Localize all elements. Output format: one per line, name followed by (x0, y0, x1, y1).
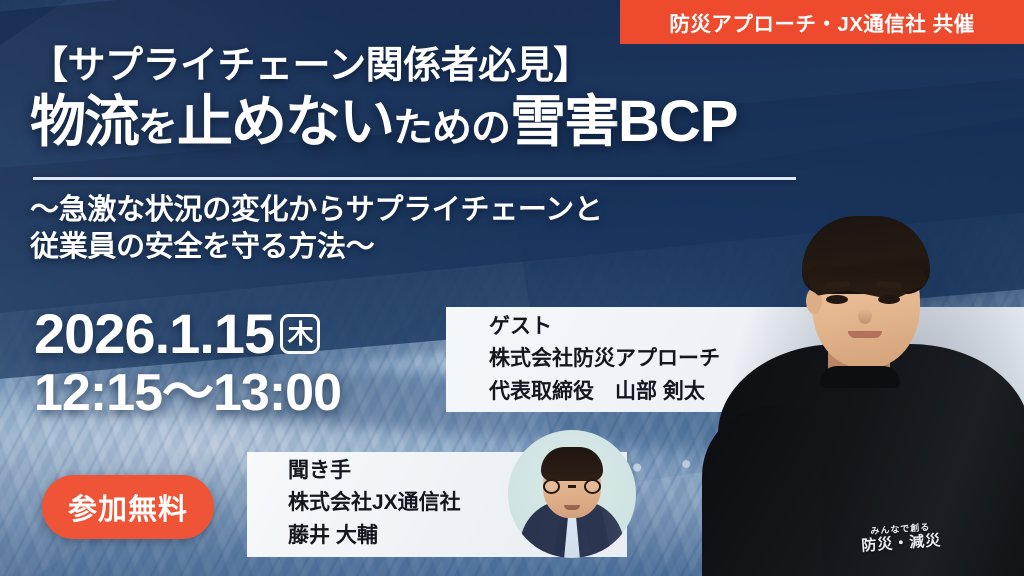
title-segment-tameno: ための (393, 108, 510, 148)
schedule-block: 2026.1.15 木 12:15～13:00 (34, 305, 341, 421)
title-segment-butsuryu: 物流 (30, 94, 138, 150)
speaker-eye-left (826, 295, 848, 304)
subtitle-line-2: 従業員の安全を守る方法～ (30, 229, 603, 266)
title-segment-wo: を (138, 108, 177, 148)
guest-title-and-name: 代表取締役 山部 剣太 (489, 376, 720, 408)
day-of-week-badge: 木 (280, 314, 320, 354)
host-name: 藤井 大輔 (288, 520, 461, 552)
webinar-banner: 防災アプローチ・JX通信社 共催 【サプライチェーン関係者必見】 物流 を 止 … (0, 0, 1024, 576)
host-company: 株式会社JX通信社 (288, 487, 461, 519)
page-title: 物流 を 止 めない ための 雪害 BCP (30, 93, 737, 151)
host-role-label: 聞き手 (288, 455, 461, 487)
title-segment-tome: 止 (177, 94, 231, 150)
kicker-text: 【サプライチェーン関係者必見】 (30, 34, 591, 89)
speaker-mouth (848, 331, 882, 338)
event-date-line: 2026.1.15 木 (34, 305, 341, 362)
title-divider-rule (33, 177, 796, 180)
title-segment-setsugai: 雪害 (510, 94, 618, 150)
guest-company: 株式会社防災アプローチ (489, 343, 720, 375)
speaker-eye-right (878, 295, 900, 304)
host-info-text: 聞き手 株式会社JX通信社 藤井 大輔 (288, 455, 461, 552)
title-segment-menai: めない (231, 94, 393, 150)
event-time: 12:15～13:00 (34, 366, 341, 421)
subtitle-line-1: ～急激な状況の変化からサプライチェーンと (30, 192, 603, 229)
guest-info-text: ゲスト 株式会社防災アプローチ 代表取締役 山部 剣太 (489, 311, 720, 408)
free-admission-badge: 参加無料 (42, 475, 214, 539)
speaker-tshirt-collar (820, 366, 900, 388)
speaker-nose (858, 308, 872, 324)
host-portrait-glasses-right (584, 479, 601, 494)
host-portrait-glasses-left (543, 479, 560, 494)
host-portrait-hair (541, 447, 603, 481)
cohost-label: 防災アプローチ・JX通信社 共催 (669, 7, 974, 37)
host-portrait-mouth (564, 505, 580, 510)
subtitle: ～急激な状況の変化からサプライチェーンと 従業員の安全を守る方法～ (30, 192, 603, 266)
guest-role-label: ゲスト (489, 311, 720, 343)
host-portrait-avatar (508, 430, 636, 558)
title-segment-bcp: BCP (618, 93, 737, 151)
host-portrait-glasses-bridge (568, 485, 576, 488)
cohost-banner: 防災アプローチ・JX通信社 共催 (620, 0, 1024, 44)
speaker-shoulder-left (702, 406, 822, 576)
guest-speaker-photo: みんなで創る 防災・減災 (724, 161, 1024, 576)
event-date: 2026.1.15 (34, 305, 274, 362)
